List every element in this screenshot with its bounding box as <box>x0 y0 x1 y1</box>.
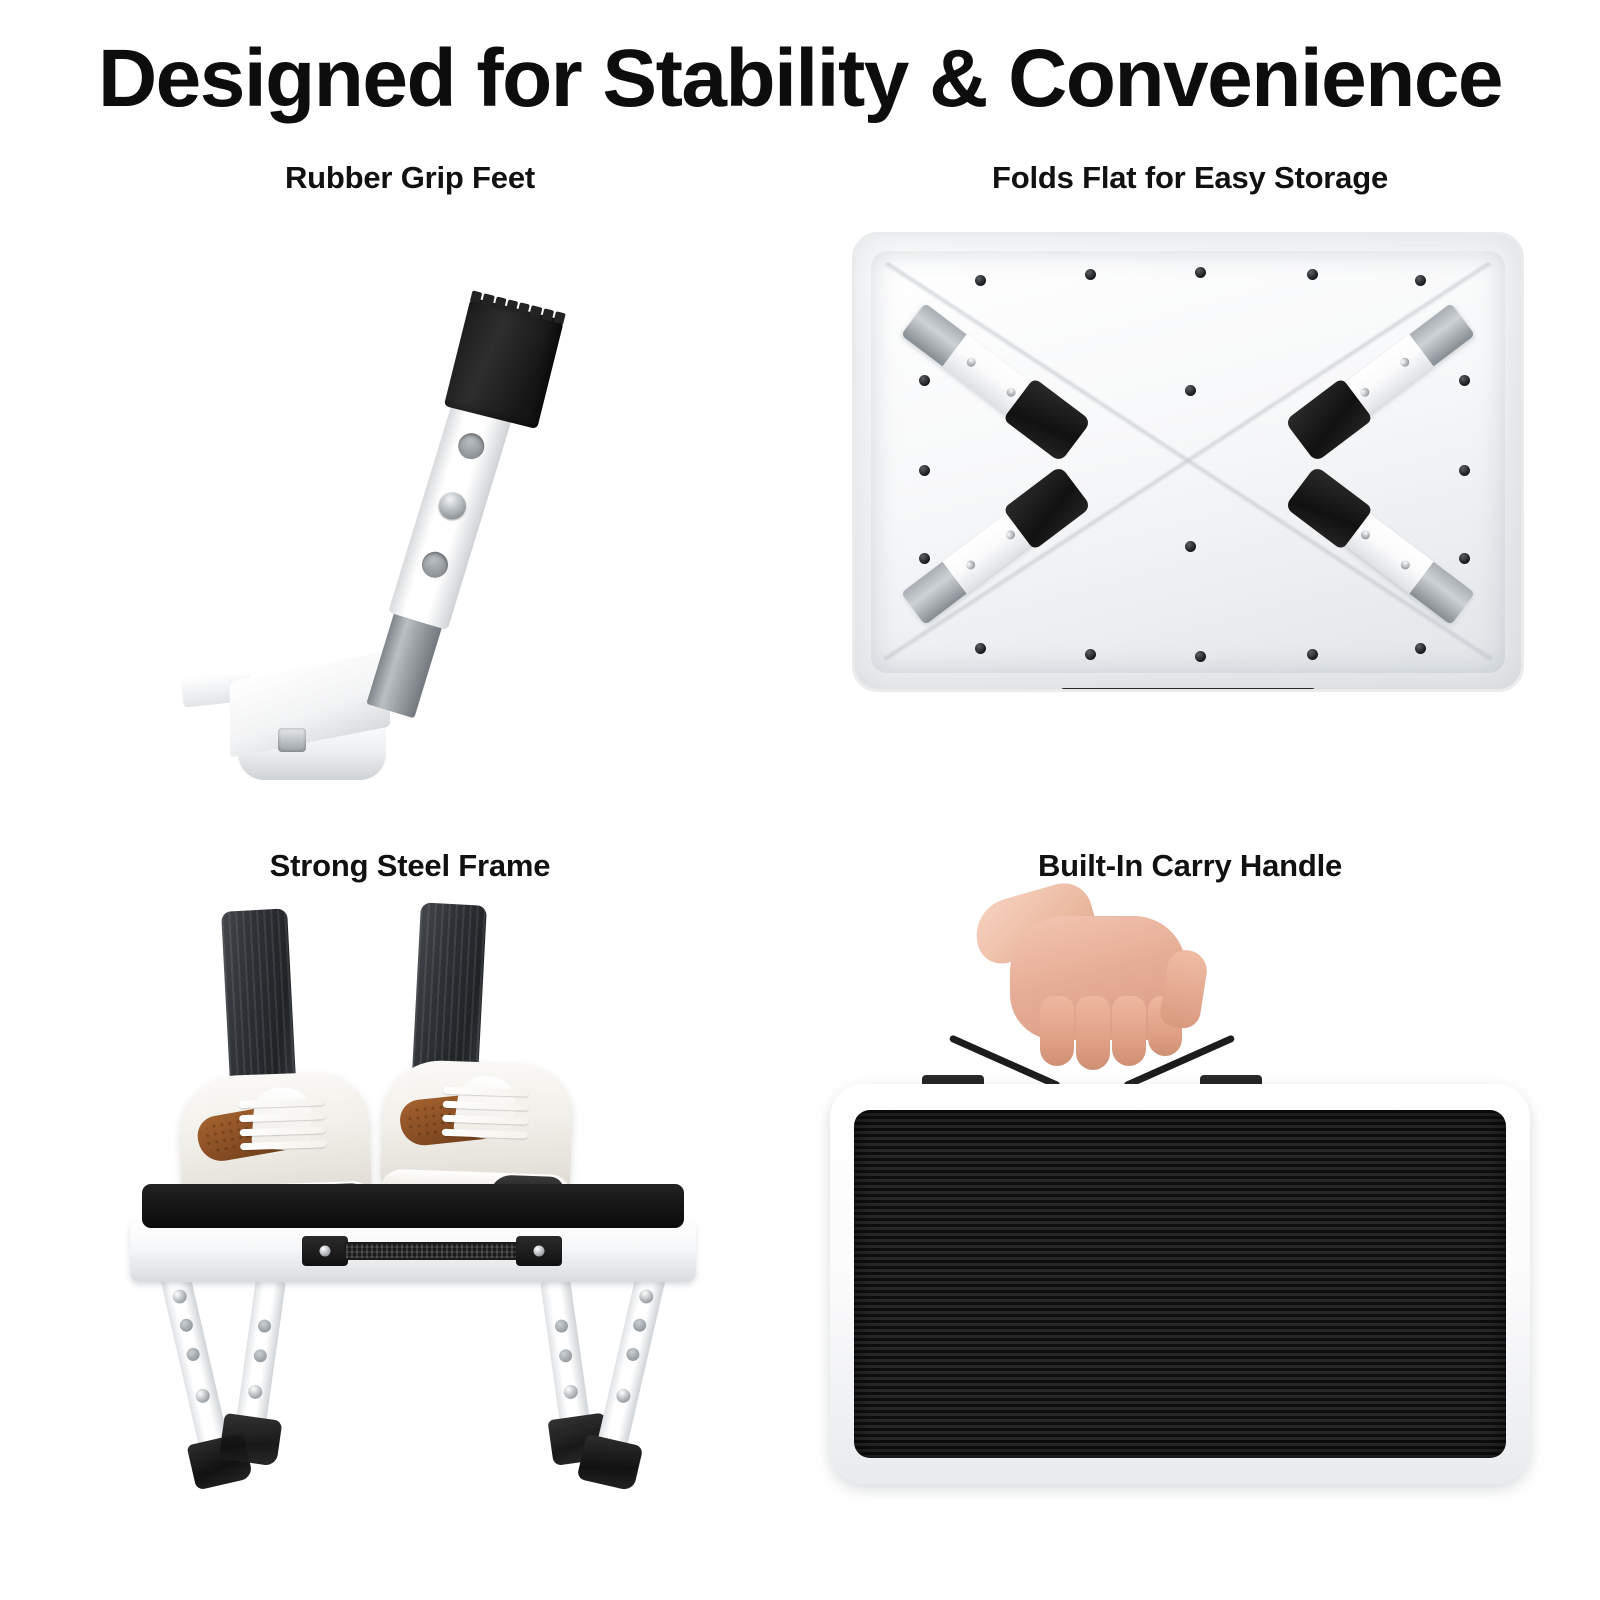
carry-strap-handle <box>302 1236 562 1266</box>
spring-push-button <box>436 489 470 523</box>
rubber-foot-cap <box>444 297 564 429</box>
sneaker-laces <box>441 1083 539 1152</box>
feature-panel-strong-steel-frame: Strong Steel Frame <box>30 848 790 1568</box>
sneaker-laces <box>238 1094 336 1163</box>
adjustment-hole-upper <box>455 430 487 462</box>
feature-label-rubber-grip-feet: Rubber Grip Feet <box>30 160 790 196</box>
carry-handle-image <box>810 884 1570 1504</box>
feature-label-folds-flat: Folds Flat for Easy Storage <box>810 160 1570 196</box>
feature-panel-rubber-grip-feet: Rubber Grip Feet <box>30 160 790 860</box>
feature-panel-folds-flat: Folds Flat for Easy Storage <box>810 160 1570 860</box>
stool-leg-front-left <box>160 1273 230 1455</box>
handle-webbing-strap <box>344 1242 520 1260</box>
open-step-stool <box>108 1184 718 1484</box>
leg-rubber-foot <box>577 1434 644 1492</box>
feature-grid: Rubber Grip Feet <box>0 160 1600 1600</box>
ribbed-rubber-step-surface <box>854 1110 1506 1458</box>
stool-frame-apron <box>130 1220 696 1282</box>
stool-underside-panel <box>852 232 1524 692</box>
carry-handle-edge <box>1060 688 1316 692</box>
adjustment-hole-lower <box>419 549 451 581</box>
anti-slip-step-mat <box>142 1184 684 1228</box>
stool-leg-back-right <box>540 1278 591 1431</box>
folded-stool-underside-image <box>810 196 1570 796</box>
folded-stool-case <box>830 1084 1530 1484</box>
leg-rubber-foot <box>219 1413 283 1467</box>
stool-leg-assembly <box>350 295 547 719</box>
handle-mount-left <box>302 1236 348 1266</box>
strong-steel-frame-image <box>30 884 790 1504</box>
white-outer-tube <box>388 392 515 630</box>
stool-leg-back-left <box>235 1278 286 1431</box>
feature-panel-built-in-carry-handle: Built-In Carry Handle <box>810 848 1570 1568</box>
feature-label-built-in-carry-handle: Built-In Carry Handle <box>810 848 1570 884</box>
hex-bolt-icon <box>278 728 306 752</box>
rubber-grip-foot-image <box>30 196 790 796</box>
rubber-tread-ridges <box>470 290 566 324</box>
stool-leg-front-right <box>596 1273 666 1455</box>
underside-x-crease <box>881 261 1495 663</box>
feature-label-strong-steel-frame: Strong Steel Frame <box>30 848 790 884</box>
folded-carry-strap <box>922 1034 1262 1090</box>
infographic-page: Designed for Stability & Convenience Rub… <box>0 0 1600 1600</box>
page-title: Designed for Stability & Convenience <box>0 34 1600 124</box>
handle-mount-right <box>516 1236 562 1266</box>
sneaker-right <box>380 1059 574 1198</box>
